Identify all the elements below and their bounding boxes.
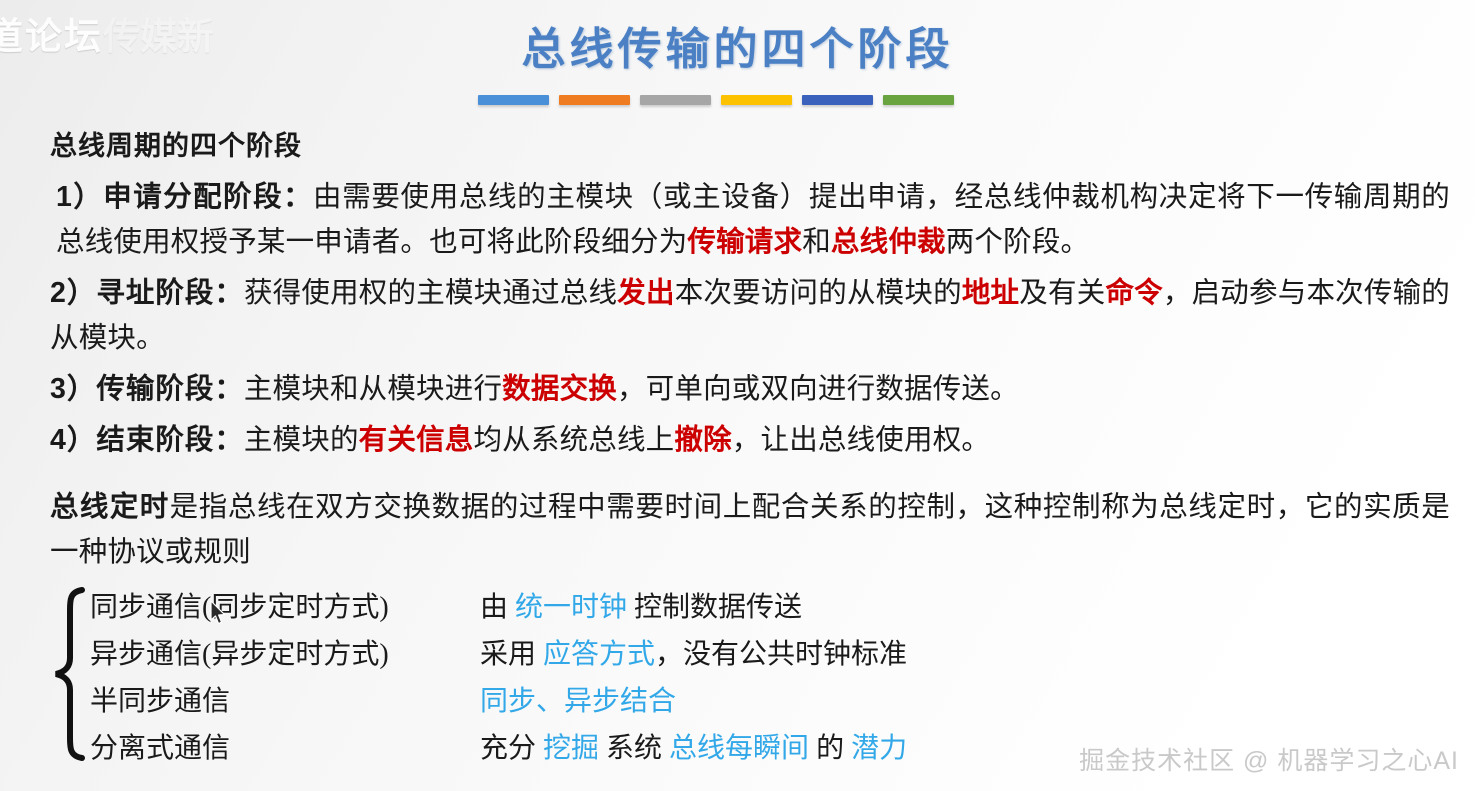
text-run-normal: 均从系统总线上 [473,425,674,456]
left-curly-brace-icon [50,584,90,772]
text-run-normal: 及有关 [1019,278,1105,309]
section-heading: 总线周期的四个阶段 [50,128,1450,164]
slide-canvas: 道论坛传媒新 总线传输的四个阶段 总线周期的四个阶段 1）申请分配阶段：由需要使… [0,0,1475,791]
comm-row-right-4: 充分 挖掘 系统 总线每瞬间 的 潜力 [480,725,1050,772]
bar-green [883,95,954,105]
bar-yellow [721,95,792,105]
slide-body: 总线周期的四个阶段 1）申请分配阶段：由需要使用总线的主模块（或主设备）提出申请… [50,128,1450,581]
phase-item-2: 2）寻址阶段：获得使用权的主模块通过总线发出本次要访问的从模块的地址及有关命令，… [50,271,1450,361]
text-run-cyan: 应答方式 [543,639,655,670]
comm-row-left-4: 分离式通信 [90,725,480,772]
communication-right-column: 由 统一时钟 控制数据传送 采用 应答方式，没有公共时钟标准 同步、异步结合 充… [480,584,1050,772]
communication-columns: 同步通信(同步定时方式) 异步通信(异步定时方式) 半同步通信 分离式通信 由 … [90,584,1050,772]
bar-orange [559,95,630,105]
text-run-normal: ，没有公共时钟标准 [655,639,907,670]
comm-row-left-2: 异步通信(异步定时方式) [90,631,480,678]
comm-row-right-1: 由 统一时钟 控制数据传送 [480,584,1050,631]
communication-table: 同步通信(同步定时方式) 异步通信(异步定时方式) 半同步通信 分离式通信 由 … [50,584,1050,772]
text-run-normal: 主模块和从模块进行 [244,374,502,405]
bar-gray [640,95,711,105]
text-run-cyan: 挖掘 [543,733,599,764]
text-run-cyan: 潜力 [851,733,907,764]
comm-row-left-1: 同步通信(同步定时方式) [90,584,480,631]
text-run-red: 命令 [1105,277,1162,309]
page-title: 总线传输的四个阶段 [0,13,1475,77]
phase-3-label: 3）传输阶段： [50,373,244,405]
text-run-cyan: 统一时钟 [515,592,627,623]
text-run-normal: 系统 [599,733,669,764]
phase-4-label: 4）结束阶段： [50,424,244,456]
text-run-red: 传输请求 [687,226,802,258]
text-run-red: 有关信息 [359,424,474,456]
comm-row-right-3: 同步、异步结合 [480,678,1050,725]
text-run-cyan: 同步、异步结合 [480,686,676,717]
watermark-bottom-right: 掘金技术社区 @ 机器学习之心AI [1079,741,1459,777]
phase-1-label: 1）申请分配阶段： [56,181,313,213]
comm-row-left-3: 半同步通信 [90,678,480,725]
text-run-normal: 获得使用权的主模块通过总线 [244,278,617,309]
bar-dark-blue [802,95,873,105]
phase-item-4: 4）结束阶段：主模块的有关信息均从系统总线上撤除，让出总线使用权。 [50,418,1450,463]
text-run-normal: 充分 [480,733,543,764]
text-run-normal: 的 [809,733,851,764]
mouse-pointer-icon [210,600,228,626]
text-run-normal: 本次要访问的从模块的 [675,278,962,309]
text-run-red: 发出 [617,277,674,309]
text-run-cyan: 总线每瞬间 [669,733,809,764]
timing-rest: 是指总线在双方交换数据的过程中需要时间上配合关系的控制，这种控制称为总线定时，它… [50,492,1450,568]
text-run-red: 撤除 [674,424,731,456]
text-run-red: 数据交换 [502,373,617,405]
phase-item-3: 3）传输阶段：主模块和从模块进行数据交换，可单向或双向进行数据传送。 [50,367,1450,412]
phase-item-1: 1）申请分配阶段：由需要使用总线的主模块（或主设备）提出申请，经总线仲裁机构决定… [50,175,1450,265]
phase-2-label: 2）寻址阶段： [50,277,244,309]
text-run-normal: 主模块的 [244,425,359,456]
phase-3-text: 主模块和从模块进行数据交换，可单向或双向进行数据传送。 [244,374,1019,405]
phase-4-text: 主模块的有关信息均从系统总线上撤除，让出总线使用权。 [244,425,990,456]
text-run-normal: ，让出总线使用权。 [732,425,990,456]
timing-paragraph: 总线定时是指总线在双方交换数据的过程中需要时间上配合关系的控制，这种控制称为总线… [50,485,1450,575]
timing-lead: 总线定时 [50,491,170,523]
text-run-normal: 采用 [480,639,543,670]
text-run-normal: 两个阶段。 [946,227,1090,258]
text-run-normal: 和 [802,227,831,258]
bar-blue [478,95,549,105]
text-run-normal: ，可单向或双向进行数据传送。 [617,374,1019,405]
text-run-normal: 控制数据传送 [627,592,802,623]
title-underline-bars [478,95,954,105]
text-run-red: 地址 [962,277,1019,309]
communication-left-column: 同步通信(同步定时方式) 异步通信(异步定时方式) 半同步通信 分离式通信 [90,584,480,772]
text-run-normal: 由 [480,592,515,623]
comm-row-right-2: 采用 应答方式，没有公共时钟标准 [480,631,1050,678]
text-run-red: 总线仲裁 [831,226,946,258]
phase-2-text: 获得使用权的主模块通过总线发出本次要访问的从模块的地址及有关命令，启动参与本次传… [50,278,1450,354]
